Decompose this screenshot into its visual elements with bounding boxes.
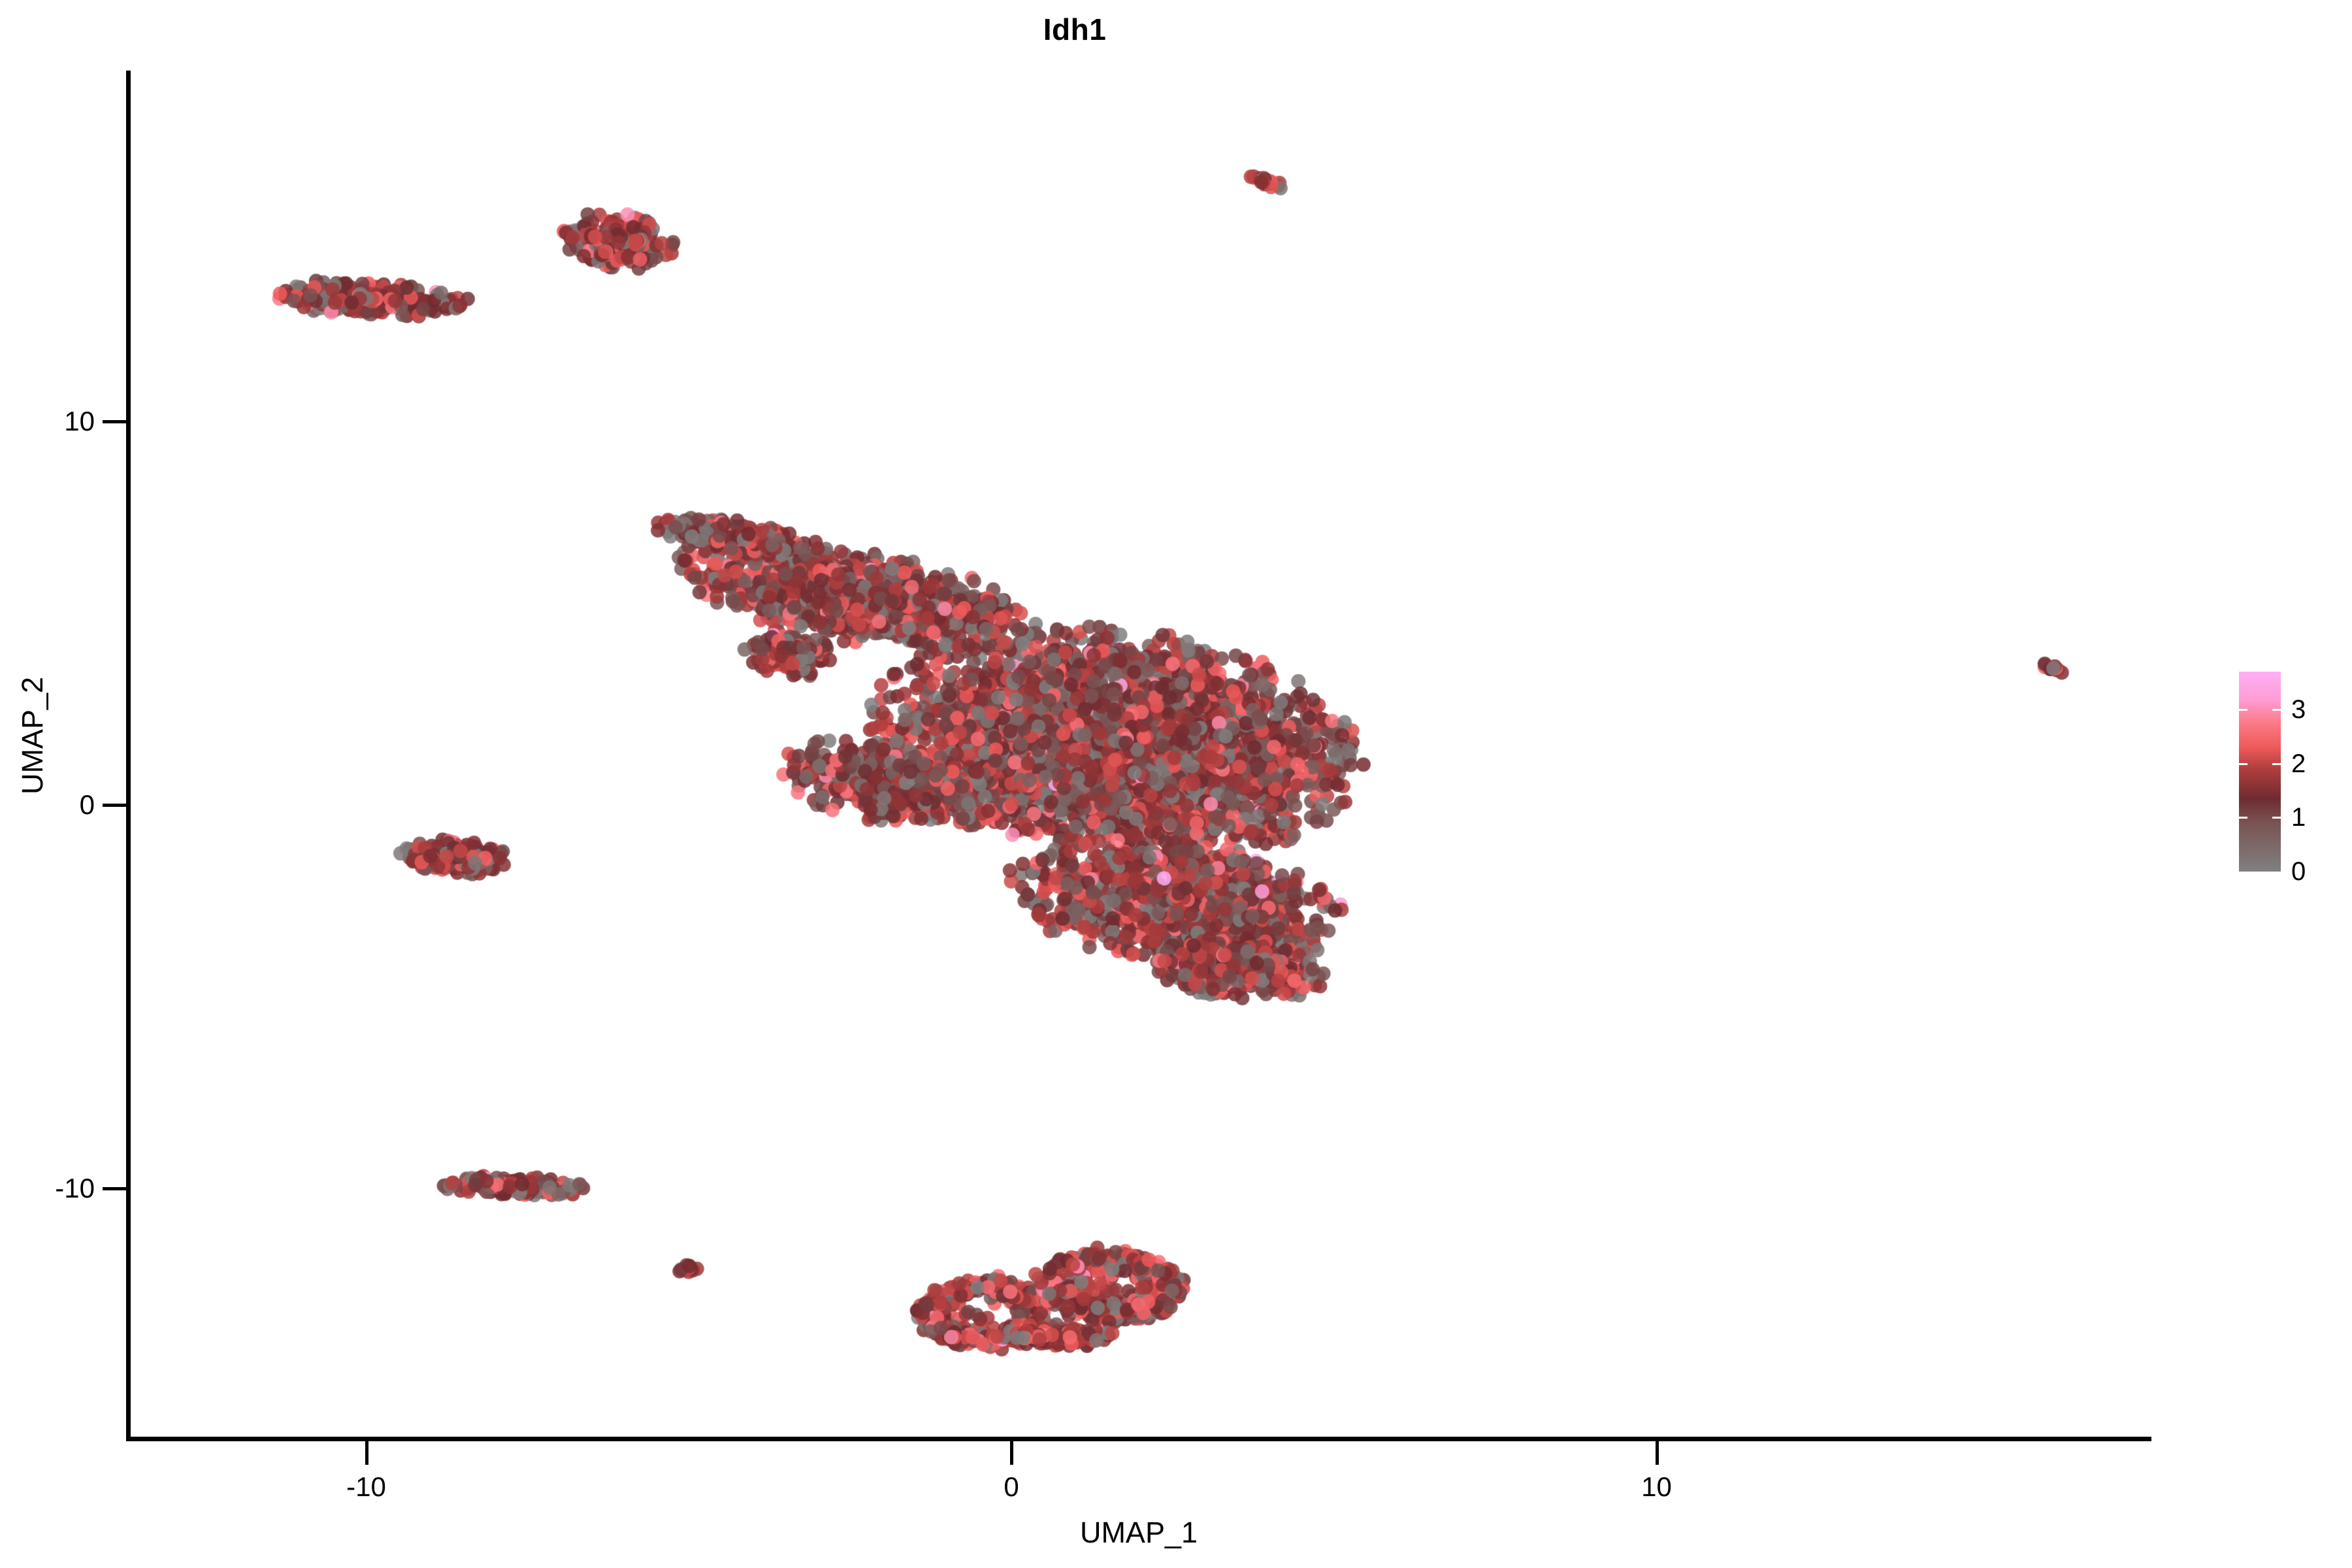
legend-tick-label: 1 bbox=[2291, 804, 2306, 830]
legend-tick-label: 3 bbox=[2291, 696, 2306, 723]
y-tick-mark bbox=[103, 420, 126, 423]
legend-colorbar bbox=[2239, 672, 2281, 872]
legend-tick-mark bbox=[2272, 709, 2281, 711]
legend-tick-mark bbox=[2239, 817, 2247, 819]
legend-tick-label: 2 bbox=[2291, 751, 2306, 777]
y-axis-title: UMAP_2 bbox=[16, 527, 50, 945]
color-legend bbox=[2239, 672, 2281, 872]
legend-tick-mark bbox=[2272, 817, 2281, 819]
x-tick-mark bbox=[1656, 1441, 1659, 1465]
y-axis-line bbox=[126, 71, 131, 1441]
scatter-plot-canvas bbox=[128, 72, 2149, 1439]
x-tick-label: -10 bbox=[301, 1471, 432, 1503]
x-tick-label: 10 bbox=[1592, 1471, 1722, 1503]
y-tick-label: -10 bbox=[3, 1175, 95, 1202]
y-tick-mark bbox=[103, 1187, 126, 1190]
x-tick-mark bbox=[365, 1441, 368, 1465]
legend-tick-mark bbox=[2239, 709, 2247, 711]
x-axis-line bbox=[126, 1437, 2151, 1441]
page-title: Idh1 bbox=[0, 0, 2149, 59]
y-tick-label: 10 bbox=[3, 408, 95, 435]
legend-tick-mark bbox=[2272, 763, 2281, 765]
x-tick-label: 0 bbox=[946, 1471, 1077, 1503]
legend-tick-label: 0 bbox=[2291, 858, 2306, 885]
x-tick-mark bbox=[1010, 1441, 1013, 1465]
y-tick-mark bbox=[103, 804, 126, 807]
x-axis-title: UMAP_1 bbox=[128, 1516, 2149, 1550]
legend-tick-mark bbox=[2239, 763, 2247, 765]
